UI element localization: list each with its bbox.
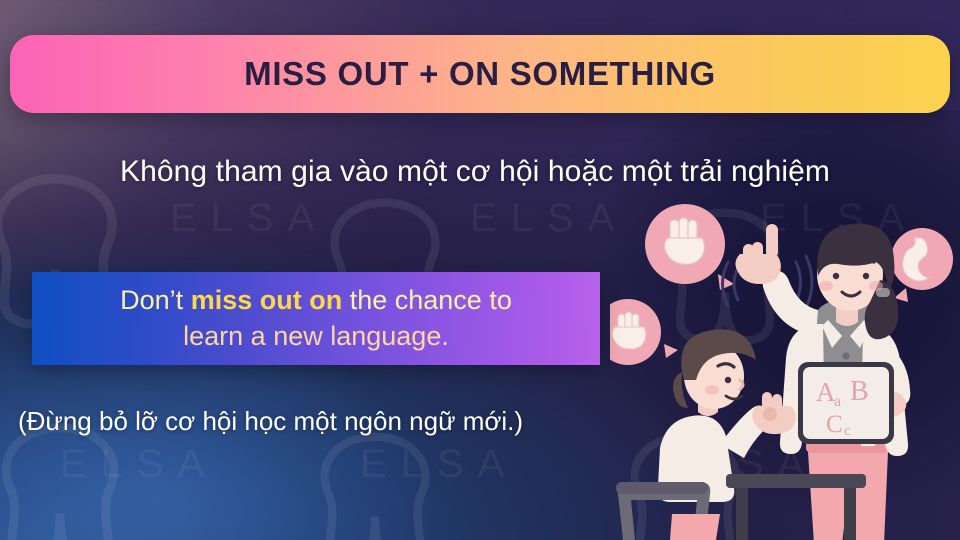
whiteboard-letter-C: C xyxy=(826,411,843,438)
example-sentence: Don’t miss out on the chance to learn a … xyxy=(102,283,530,354)
example-rest: the chance to xyxy=(342,285,512,315)
title-banner: MISS OUT + ON SOMETHING xyxy=(10,35,950,113)
brand-watermark: ELSA xyxy=(470,196,628,241)
translation-text: (Đừng bỏ lỡ cơ hội học một ngôn ngữ mới.… xyxy=(18,406,523,437)
slide-root: ELSA ELSA ELSA ELSA ELSA ELSA xyxy=(0,0,960,540)
example-sentence-box: Don’t miss out on the chance to learn a … xyxy=(32,272,600,365)
whiteboard-letter-A: A xyxy=(816,377,836,407)
example-highlight-phrase: miss out on xyxy=(191,285,343,315)
definition-text: Không tham gia vào một cơ hội hoặc một t… xyxy=(0,155,960,189)
illustration-sign-language-lesson: A a B C c xyxy=(610,196,960,540)
whiteboard-letter-a: a xyxy=(834,393,841,410)
example-line-two: learn a new language. xyxy=(183,321,449,351)
elsa-knot-logo-icon xyxy=(290,420,460,540)
whiteboard: A a B C c xyxy=(798,362,894,444)
page-title: MISS OUT + ON SOMETHING xyxy=(244,55,716,93)
whiteboard-letter-B: B xyxy=(850,376,869,407)
whiteboard-letter-c: c xyxy=(844,423,851,439)
example-lead: Don’t xyxy=(120,285,191,315)
